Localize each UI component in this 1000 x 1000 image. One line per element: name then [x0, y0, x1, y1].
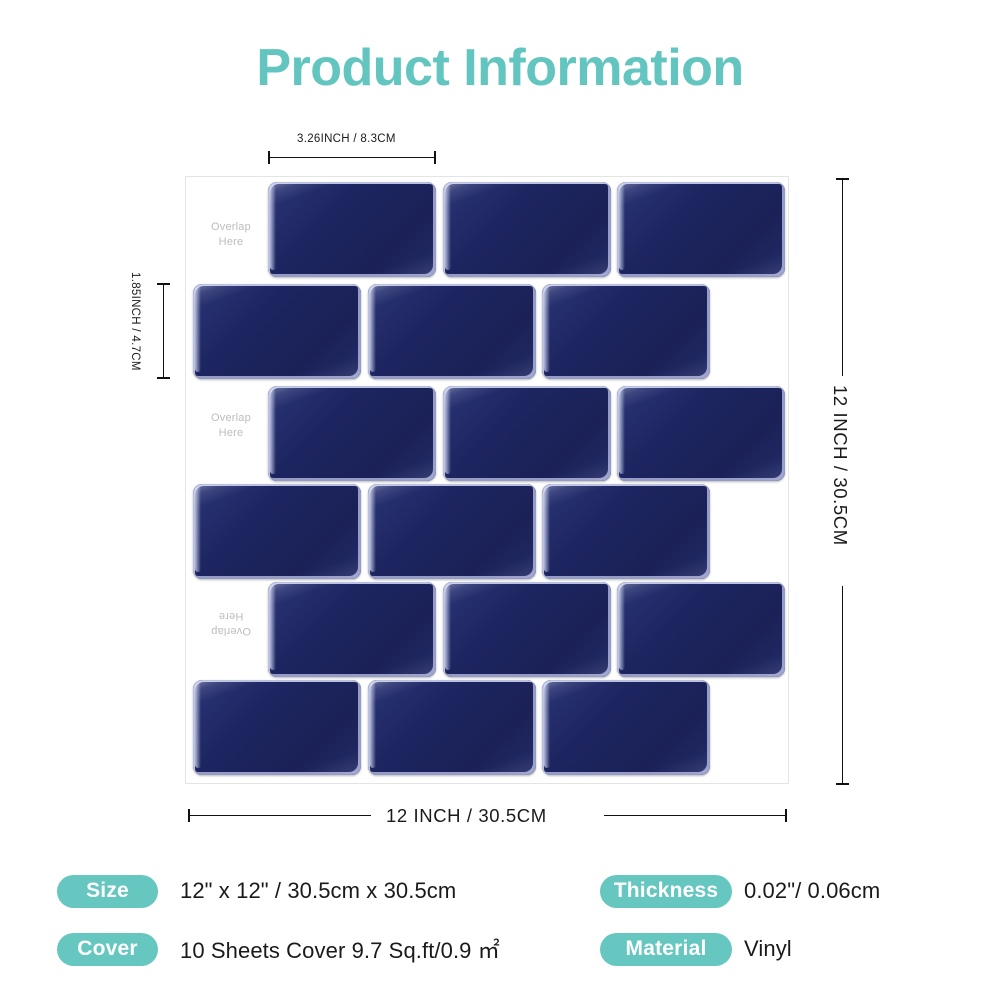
spec-badge-cover: Cover [57, 933, 158, 966]
spec-value-size: 12" x 12" / 30.5cm x 30.5cm [180, 878, 456, 904]
product-diagram: 3.26INCH / 8.3CM 1.85INCH / 4.7CM 12 INC… [0, 0, 1000, 860]
tile [617, 182, 785, 277]
spec-cell-size: Size 12" x 12" / 30.5cm x 30.5cm [0, 875, 600, 908]
overlap-here-label-flipped: Overlap Here [193, 608, 269, 638]
tile [617, 582, 785, 677]
tile [193, 680, 361, 775]
dim-sheet-width-cap-left [188, 809, 190, 822]
spec-value-thickness: 0.02"/ 0.06cm [744, 878, 880, 904]
dim-tile-height-line [163, 283, 164, 378]
dim-tile-width-cap-left [268, 151, 270, 164]
spec-badge-size: Size [57, 875, 158, 908]
dim-sheet-height-cap-bottom [836, 783, 849, 785]
spec-table: Size 12" x 12" / 30.5cm x 30.5cm Thickne… [0, 862, 1000, 978]
tile [443, 182, 611, 277]
dim-tile-height-label: 1.85INCH / 4.7CM [129, 272, 141, 371]
overlap-here-line1: Overlap [193, 220, 269, 235]
dim-sheet-width-cap-right [785, 809, 787, 822]
dim-sheet-width-line-right [604, 815, 787, 816]
dim-tile-height-cap-bottom [157, 377, 170, 379]
dim-sheet-height-label: 12 INCH / 30.5CM [829, 385, 851, 546]
tile [368, 484, 536, 579]
dim-tile-height-cap-top [157, 283, 170, 285]
dim-sheet-height-line-top [842, 178, 843, 376]
overlap-here-line1: Overlap [193, 623, 269, 638]
spec-value-cover: 10 Sheets Cover 9.7 Sq.ft/0.9 ㎡ [180, 933, 500, 965]
spec-row: Size 12" x 12" / 30.5cm x 30.5cm Thickne… [0, 862, 1000, 920]
overlap-here-label: Overlap Here [193, 220, 269, 250]
spec-cell-thickness: Thickness 0.02"/ 0.06cm [600, 875, 1000, 908]
tile [268, 386, 436, 481]
dim-sheet-height-line-bottom [842, 586, 843, 784]
tile [268, 582, 436, 677]
dim-tile-width-label: 3.26INCH / 8.3CM [297, 133, 396, 145]
spec-cell-cover: Cover 10 Sheets Cover 9.7 Sq.ft/0.9 ㎡ [0, 933, 600, 966]
tile [542, 484, 710, 579]
overlap-here-line2: Here [193, 426, 269, 441]
overlap-here-label: Overlap Here [193, 411, 269, 441]
overlap-here-line2: Here [193, 608, 269, 623]
tile [617, 386, 785, 481]
spec-value-material: Vinyl [744, 936, 792, 962]
dim-tile-width-line [268, 157, 436, 158]
tile [443, 582, 611, 677]
tile [368, 284, 536, 379]
spec-badge-thickness: Thickness [600, 875, 732, 908]
dim-sheet-width-line-left [188, 815, 371, 816]
dim-tile-width-cap-right [434, 151, 436, 164]
spec-badge-material: Material [600, 933, 732, 966]
spec-row: Cover 10 Sheets Cover 9.7 Sq.ft/0.9 ㎡ Ma… [0, 920, 1000, 978]
dim-sheet-height-cap-top [836, 178, 849, 180]
overlap-here-line1: Overlap [193, 411, 269, 426]
tile [268, 182, 436, 277]
tile [542, 680, 710, 775]
spec-cell-material: Material Vinyl [600, 933, 1000, 966]
tile [193, 484, 361, 579]
dim-sheet-width-label: 12 INCH / 30.5CM [386, 805, 547, 827]
overlap-here-line2: Here [193, 235, 269, 250]
tile [443, 386, 611, 481]
tile [193, 284, 361, 379]
tile [542, 284, 710, 379]
tile [368, 680, 536, 775]
